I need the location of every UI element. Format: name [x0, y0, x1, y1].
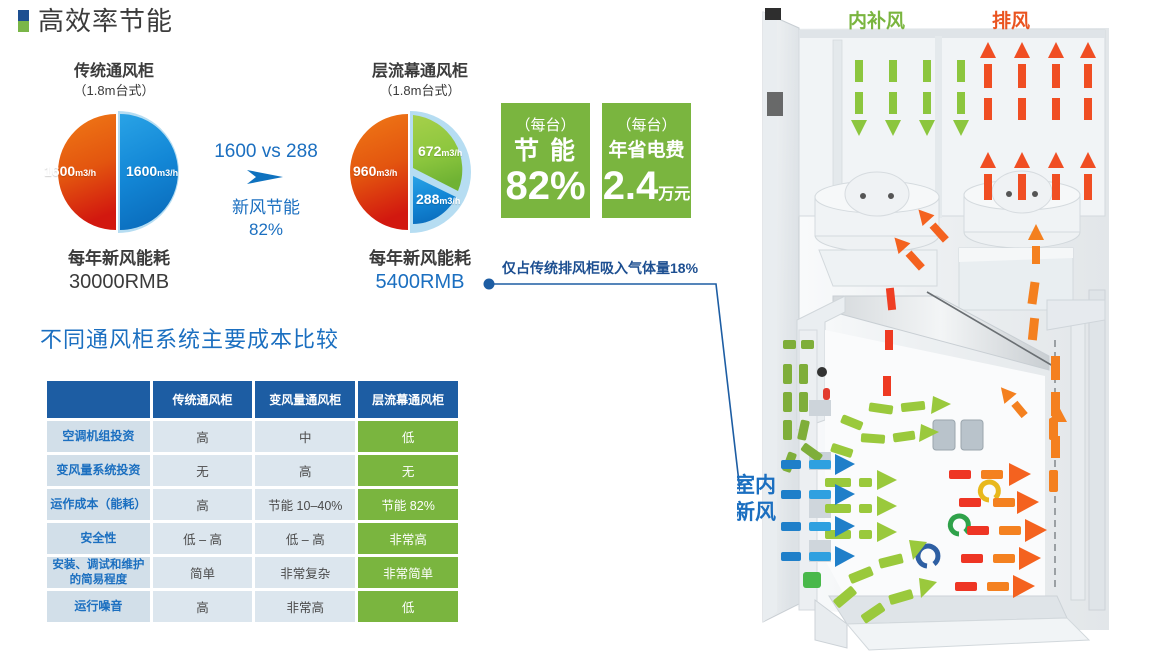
- table-cell: 低 – 高: [255, 523, 355, 554]
- table-title: 不同通风柜系统主要成本比较: [40, 322, 339, 354]
- table-cell-highlight: 非常简单: [358, 557, 458, 588]
- pie-chart-conventional: 1600m3/h 1600m3/h: [34, 110, 206, 234]
- pie-left-slice-label-1: 1600m3/h: [44, 163, 96, 181]
- comparison-line2: 新风节能: [186, 196, 346, 219]
- table-row-head: 安装、调试和维护的简易程度: [47, 557, 150, 588]
- callout-leader-line: [480, 275, 740, 505]
- label-indoor-air-line1: 室内: [737, 473, 776, 499]
- table-cell: 高: [153, 591, 253, 622]
- pie-right-slice-label-orange: 960m3/h: [353, 163, 397, 181]
- table-cell: 节能 10–40%: [255, 489, 355, 520]
- fume-hood-diagram: [737, 0, 1149, 660]
- comparison-ratio: 1600 vs 288: [186, 140, 346, 164]
- table-row-head: 空调机组投资: [47, 421, 150, 452]
- pie-chart-laminar: 960m3/h 672m3/h 288m3/h: [348, 110, 488, 234]
- badge-savings-value: 2.4万元: [603, 166, 691, 206]
- table-row: 运作成本（能耗） 高 节能 10–40% 节能 82%: [47, 489, 458, 520]
- table-cell: 中: [255, 421, 355, 452]
- arrow-right-icon: [243, 166, 289, 188]
- table-row-head: 变风量系统投资: [47, 455, 150, 486]
- table-row-head: 运作成本（能耗）: [47, 489, 150, 520]
- label-indoor-air-line2: 新风: [737, 500, 776, 526]
- table-cell: 高: [153, 421, 253, 452]
- badge-energy-value: 82%: [505, 166, 585, 206]
- pie-right-slice-label-blue: 288m3/h: [416, 191, 460, 209]
- label-exhaust-air: 排风: [992, 6, 1030, 33]
- table-cell: 高: [153, 489, 253, 520]
- label-supply-air: 内补风: [848, 6, 905, 33]
- page-title: 高效率节能: [38, 8, 173, 34]
- table-cell: 简单: [153, 557, 253, 588]
- comparison-line3: 82%: [186, 219, 346, 241]
- table-cell: 非常高: [255, 591, 355, 622]
- table-header-cell-1: 传统通风柜: [153, 381, 253, 418]
- badge-annual-savings: （每台） 年省电费 2.4万元: [602, 103, 691, 218]
- table-row: 变风量系统投资 无 高 无: [47, 455, 458, 486]
- cost-comparison-table: 传统通风柜 变风量通风柜 层流幕通风柜 空调机组投资 高 中 低 变风量系统投资…: [44, 378, 461, 625]
- table-row-head: 安全性: [47, 523, 150, 554]
- table-cell-highlight: 非常高: [358, 523, 458, 554]
- pie-left-slice-label-2: 1600m3/h: [126, 163, 178, 181]
- pie-left-title: 传统通风柜 （1.8m台式）: [24, 62, 204, 100]
- badge-energy-saving: （每台） 节 能 82%: [501, 103, 590, 218]
- table-cell: 无: [153, 455, 253, 486]
- pie-left-footer: 每年新风能耗 30000RMB: [24, 248, 214, 294]
- brand-mark-icon: [18, 10, 29, 32]
- pie-right-title: 层流幕通风柜 （1.8m台式）: [330, 62, 510, 100]
- table-row: 空调机组投资 高 中 低: [47, 421, 458, 452]
- table-row: 安全性 低 – 高 低 – 高 非常高: [47, 523, 458, 554]
- table-cell: 低 – 高: [153, 523, 253, 554]
- table-header-cell-0: [47, 381, 150, 418]
- table-row: 运行噪音 高 非常高 低: [47, 591, 458, 622]
- table-row: 安装、调试和维护的简易程度 简单 非常复杂 非常简单: [47, 557, 458, 588]
- table-cell-highlight: 低: [358, 421, 458, 452]
- table-cell-highlight: 低: [358, 591, 458, 622]
- table-cell-highlight: 无: [358, 455, 458, 486]
- fume-hood-illustration: 内补风 排风 室内 新风: [737, 0, 1149, 660]
- table-cell: 高: [255, 455, 355, 486]
- table-cell-highlight: 节能 82%: [358, 489, 458, 520]
- pie-left-footer-value: 30000RMB: [24, 270, 214, 294]
- table-header-cell-3: 层流幕通风柜: [358, 381, 458, 418]
- comparison-callout: 1600 vs 288 新风节能 82%: [186, 140, 346, 241]
- page-header: 高效率节能: [18, 8, 173, 34]
- table-cell: 非常复杂: [255, 557, 355, 588]
- pie-right-slice-label-green: 672m3/h: [418, 143, 462, 161]
- table-row-head: 运行噪音: [47, 591, 150, 622]
- table-header-row: 传统通风柜 变风量通风柜 层流幕通风柜: [47, 381, 458, 418]
- infographic-page: 高效率节能 传统通风柜 （1.8m台式）: [0, 0, 1149, 660]
- table-header-cell-2: 变风量通风柜: [255, 381, 355, 418]
